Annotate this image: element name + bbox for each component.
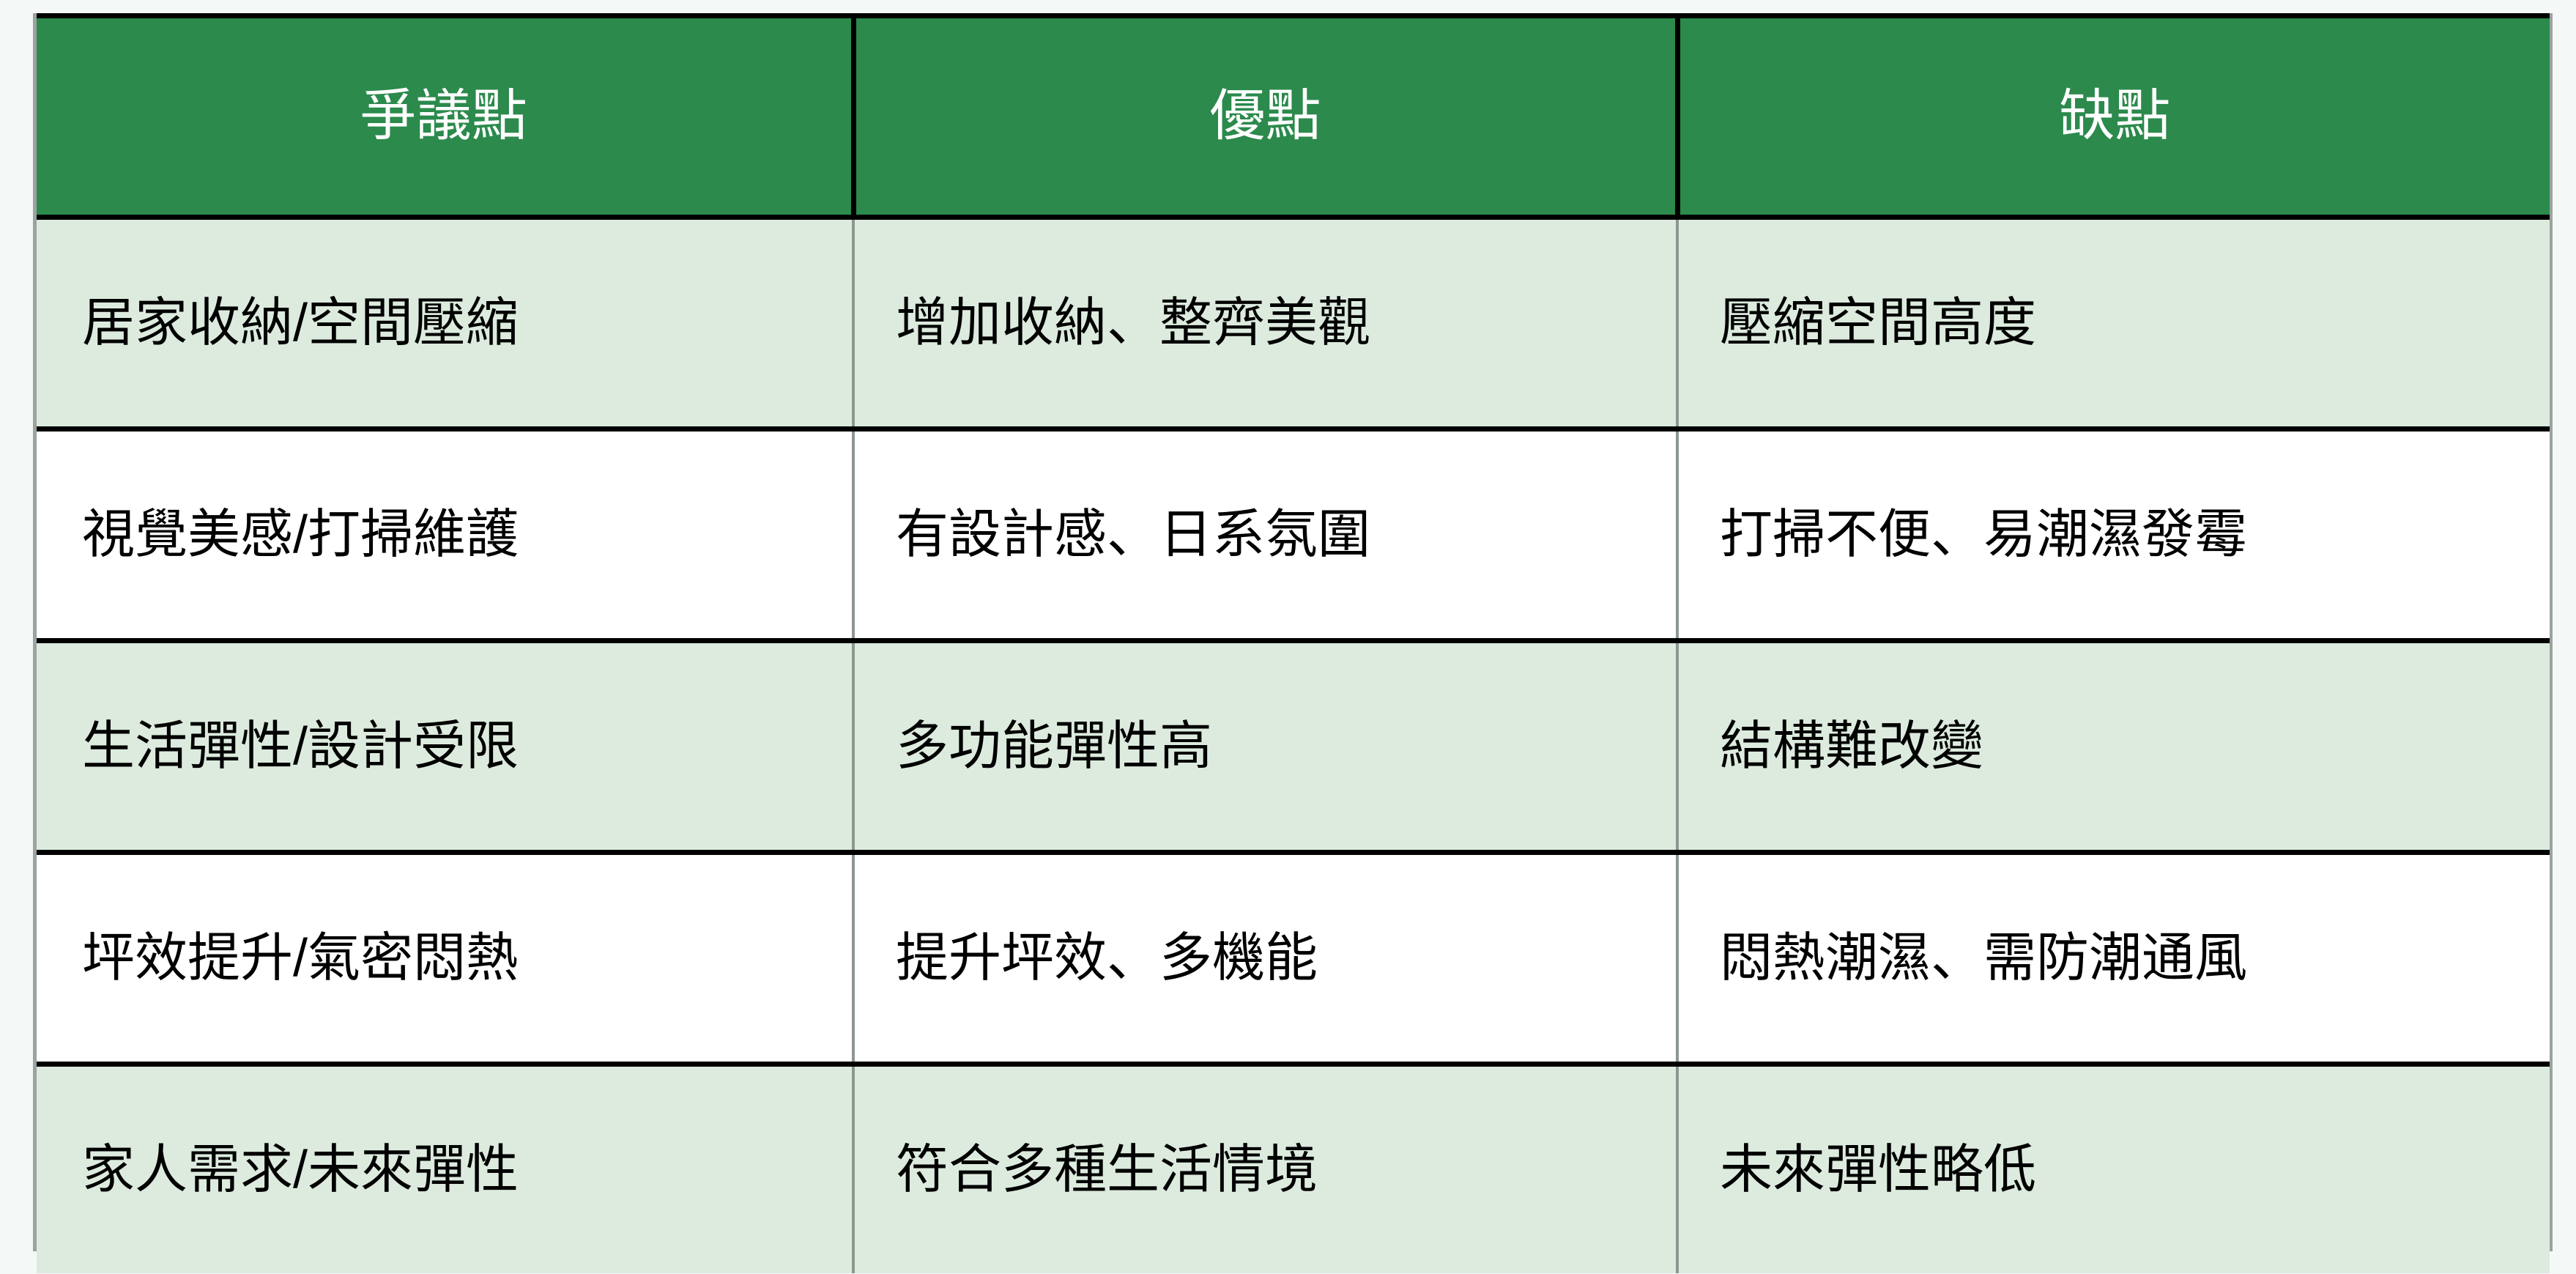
cell-pros: 提升坪效、多機能 (853, 853, 1677, 1064)
table-row: 居家收納/空間壓縮 增加收納、整齊美觀 壓縮空間高度 (37, 218, 2550, 429)
cell-pros: 有設計感、日系氛圍 (853, 429, 1677, 641)
column-header-cons: 缺點 (1677, 16, 2550, 218)
column-header-issue: 爭議點 (37, 16, 853, 218)
cell-issue: 家人需求/未來彈性 (37, 1064, 853, 1274)
cell-pros: 增加收納、整齊美觀 (853, 218, 1677, 429)
pros-cons-comparison-table: 爭議點 優點 缺點 居家收納/空間壓縮 增加收納、整齊美觀 壓縮空間高度 視覺美… (37, 13, 2550, 1273)
cell-issue: 視覺美感/打掃維護 (37, 429, 853, 641)
cell-issue: 居家收納/空間壓縮 (37, 218, 853, 429)
table-body: 居家收納/空間壓縮 增加收納、整齊美觀 壓縮空間高度 視覺美感/打掃維護 有設計… (37, 218, 2550, 1274)
cell-cons: 壓縮空間高度 (1677, 218, 2550, 429)
cell-cons: 結構難改變 (1677, 641, 2550, 853)
cell-cons: 悶熱潮濕、需防潮通風 (1677, 853, 2550, 1064)
cell-issue: 生活彈性/設計受限 (37, 641, 853, 853)
table-header-row: 爭議點 優點 缺點 (37, 16, 2550, 218)
table-row: 視覺美感/打掃維護 有設計感、日系氛圍 打掃不便、易潮濕發霉 (37, 429, 2550, 641)
cell-cons: 未來彈性略低 (1677, 1064, 2550, 1274)
table-row: 坪效提升/氣密悶熱 提升坪效、多機能 悶熱潮濕、需防潮通風 (37, 853, 2550, 1064)
column-header-pros: 優點 (853, 16, 1677, 218)
cell-issue: 坪效提升/氣密悶熱 (37, 853, 853, 1064)
table-header: 爭議點 優點 缺點 (37, 16, 2550, 218)
table-row: 家人需求/未來彈性 符合多種生活情境 未來彈性略低 (37, 1064, 2550, 1274)
comparison-table-container: 爭議點 優點 缺點 居家收納/空間壓縮 增加收納、整齊美觀 壓縮空間高度 視覺美… (33, 13, 2553, 1251)
cell-pros: 多功能彈性高 (853, 641, 1677, 853)
cell-pros: 符合多種生活情境 (853, 1064, 1677, 1274)
cell-cons: 打掃不便、易潮濕發霉 (1677, 429, 2550, 641)
table-row: 生活彈性/設計受限 多功能彈性高 結構難改變 (37, 641, 2550, 853)
